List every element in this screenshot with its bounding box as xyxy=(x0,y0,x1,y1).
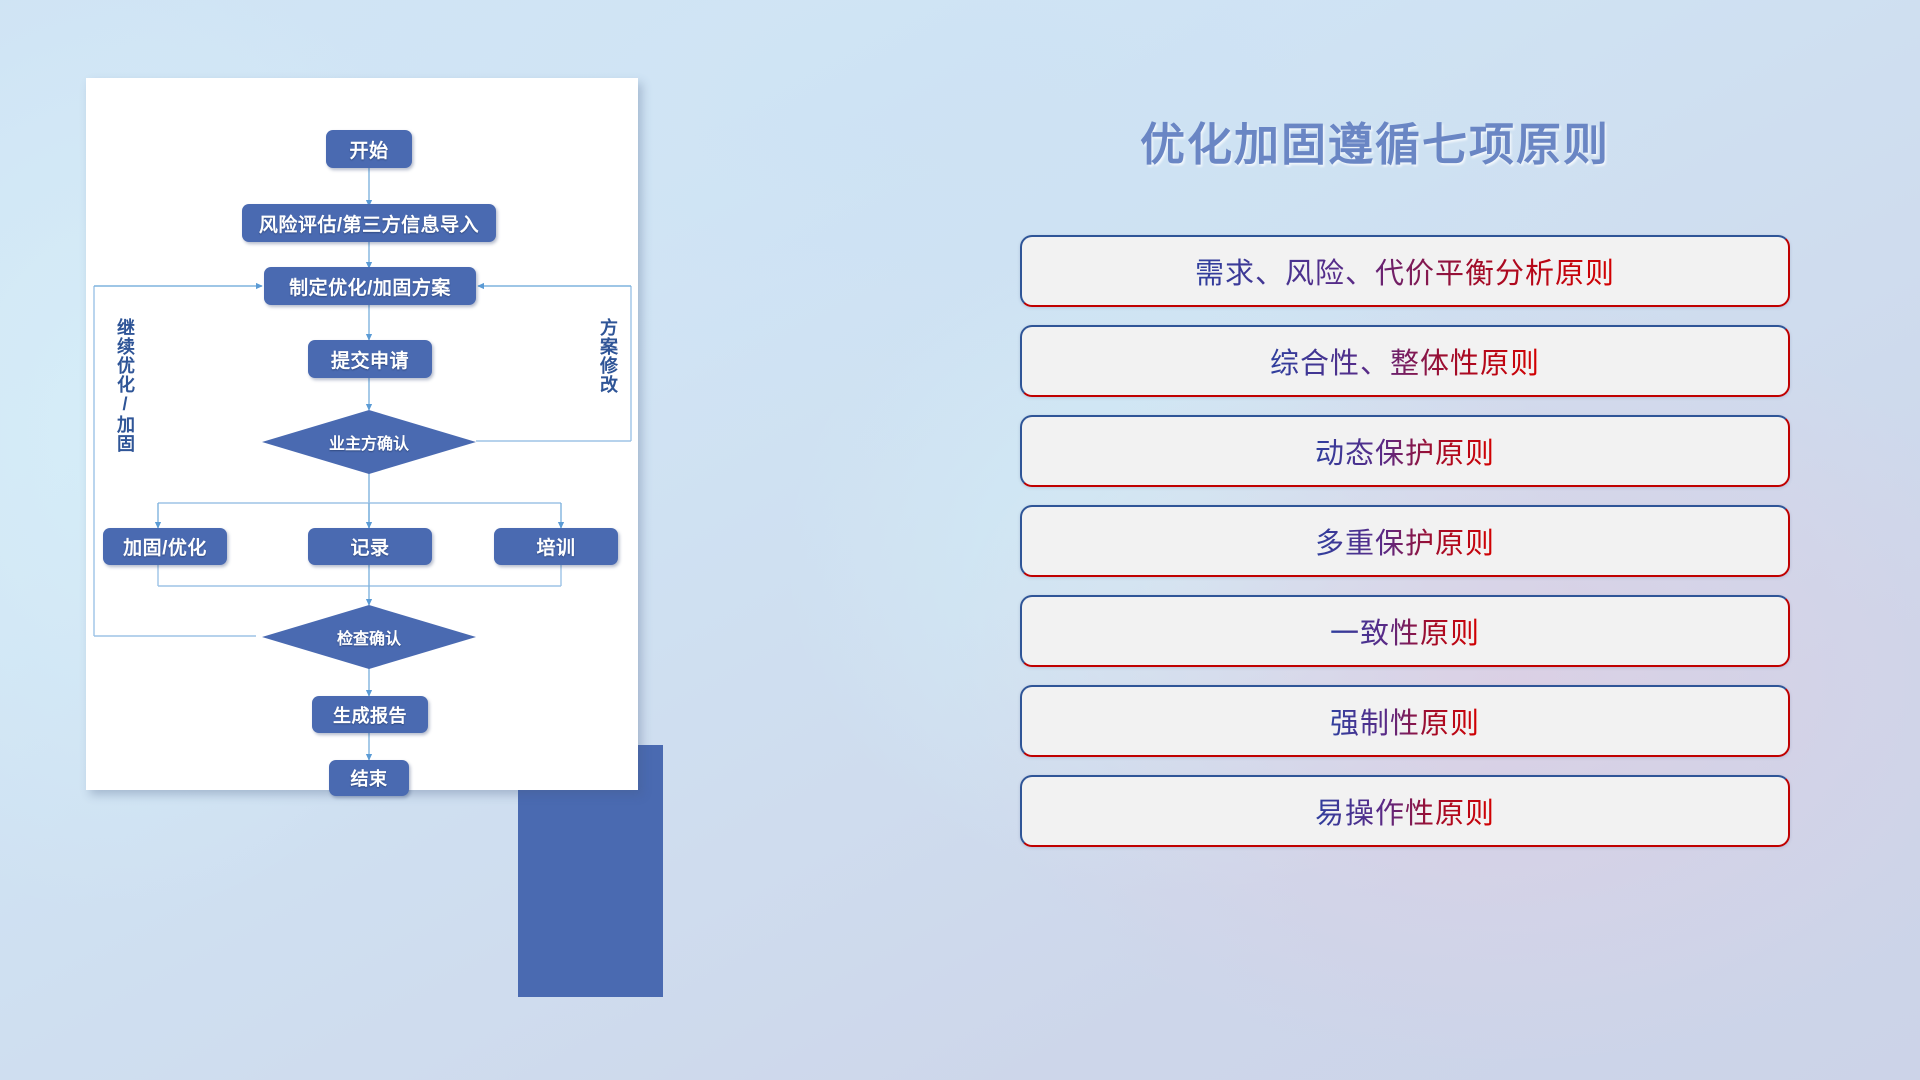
flow-node-start[interactable]: 开始 xyxy=(326,130,412,168)
principle-label: 易操作性原则 xyxy=(1315,790,1495,832)
principle-card[interactable]: 动态保护原则 xyxy=(1020,415,1790,487)
principle-card[interactable]: 强制性原则 xyxy=(1020,685,1790,757)
flow-node-label: 业主方确认 xyxy=(329,430,409,454)
slide-root: 开始 风险评估/第三方信息导入 制定优化/加固方案 提交申请 业主方确认 加固/… xyxy=(0,0,1920,1080)
flow-node-label: 检查确认 xyxy=(337,625,401,649)
flow-node-make-plan[interactable]: 制定优化/加固方案 xyxy=(264,267,476,305)
flow-node-risk-assessment[interactable]: 风险评估/第三方信息导入 xyxy=(242,204,496,242)
principle-label: 多重保护原则 xyxy=(1315,520,1495,562)
principle-label: 综合性、整体性原则 xyxy=(1270,340,1540,382)
flow-node-label: 结束 xyxy=(351,765,388,791)
flowchart-card: 开始 风险评估/第三方信息导入 制定优化/加固方案 提交申请 业主方确认 加固/… xyxy=(86,78,638,790)
edge-label-plan-revision: 方案修改 xyxy=(595,318,621,394)
flow-node-label: 制定优化/加固方案 xyxy=(289,273,451,300)
flow-node-label: 培训 xyxy=(536,533,575,560)
flow-node-label: 提交申请 xyxy=(331,346,409,373)
principle-label: 动态保护原则 xyxy=(1315,430,1495,472)
flow-node-label: 开始 xyxy=(349,136,388,163)
flow-node-label: 加固/优化 xyxy=(123,533,207,560)
principle-label: 强制性原则 xyxy=(1330,700,1480,742)
flow-node-reinforce-optimize[interactable]: 加固/优化 xyxy=(103,528,227,565)
flow-node-end[interactable]: 结束 xyxy=(329,760,409,796)
flow-node-label: 风险评估/第三方信息导入 xyxy=(259,210,479,237)
principle-card[interactable]: 一致性原则 xyxy=(1020,595,1790,667)
principle-card[interactable]: 多重保护原则 xyxy=(1020,505,1790,577)
principle-label: 需求、风险、代价平衡分析原则 xyxy=(1195,250,1615,292)
principles-title: 优化加固遵循七项原则 xyxy=(830,108,1920,173)
principle-card[interactable]: 易操作性原则 xyxy=(1020,775,1790,847)
principle-label: 一致性原则 xyxy=(1330,610,1480,652)
edge-label-continue-optimize: 继续优化/加固 xyxy=(112,318,138,453)
flowchart-panel: 开始 风险评估/第三方信息导入 制定优化/加固方案 提交申请 业主方确认 加固/… xyxy=(0,0,830,1080)
principles-list: 需求、风险、代价平衡分析原则 综合性、整体性原则 动态保护原则 多重保护原则 一… xyxy=(1020,235,1790,865)
flow-node-submit-application[interactable]: 提交申请 xyxy=(308,340,432,378)
principles-panel: 优化加固遵循七项原则 需求、风险、代价平衡分析原则 综合性、整体性原则 动态保护… xyxy=(830,0,1920,1080)
flow-node-generate-report[interactable]: 生成报告 xyxy=(312,696,428,733)
principle-card[interactable]: 需求、风险、代价平衡分析原则 xyxy=(1020,235,1790,307)
principle-card[interactable]: 综合性、整体性原则 xyxy=(1020,325,1790,397)
flow-node-training[interactable]: 培训 xyxy=(494,528,618,565)
flow-node-label: 生成报告 xyxy=(333,702,407,728)
flow-node-label: 记录 xyxy=(350,533,389,560)
flow-node-record[interactable]: 记录 xyxy=(308,528,432,565)
